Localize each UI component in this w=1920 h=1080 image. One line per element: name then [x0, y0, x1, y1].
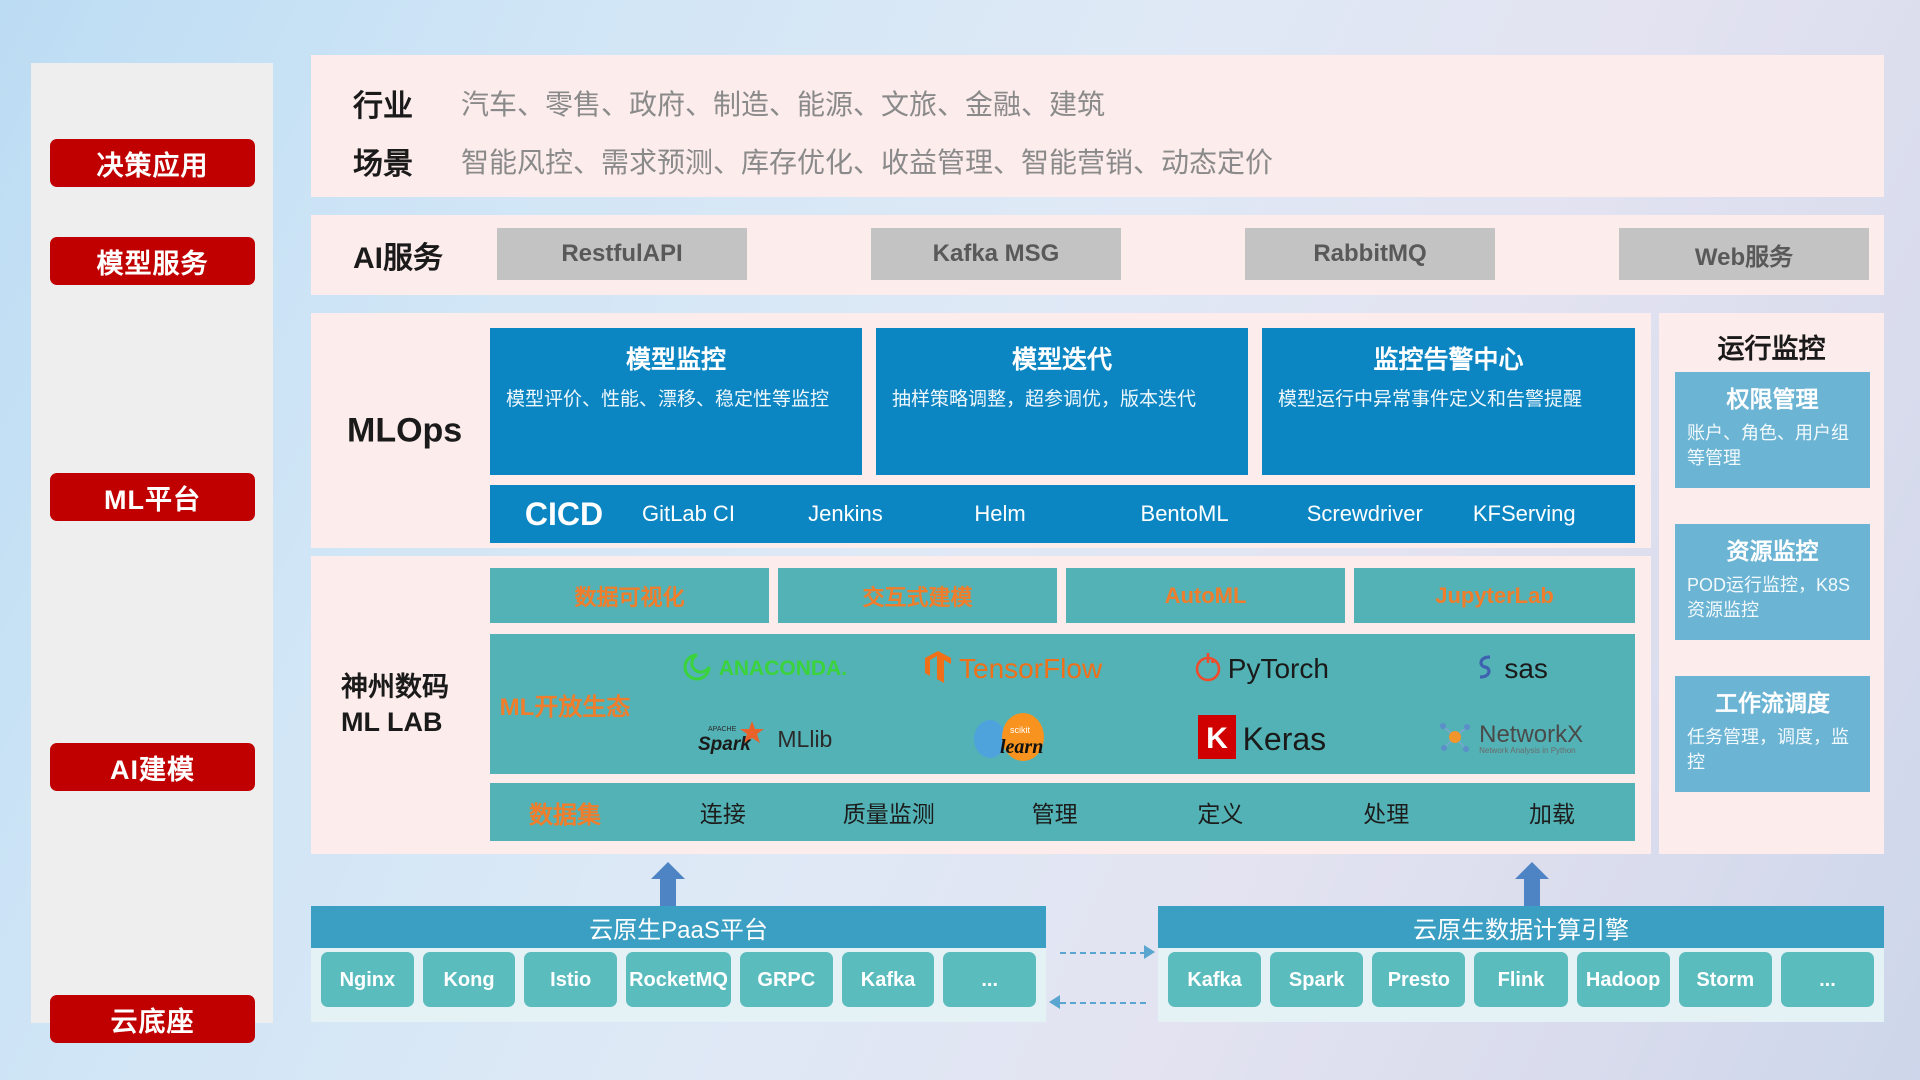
dashed-connector-top — [1060, 952, 1146, 954]
keras-label: Keras — [1243, 721, 1327, 758]
scenario-value: 智能风控、需求预测、库存优化、收益管理、智能营销、动态定价 — [461, 141, 1273, 181]
dashed-arrow-right — [1144, 945, 1155, 959]
tensorflow-logo: TensorFlow — [924, 650, 1102, 689]
ml-ecosystem-row: ML开放生态 ANACONDA. TensorFlow — [490, 634, 1635, 774]
svg-text:APACHE: APACHE — [708, 726, 737, 733]
scikit-learn-logo: scikit learn — [966, 711, 1060, 768]
svg-text:Spark: Spark — [698, 734, 752, 755]
monitor-card-desc: POD运行监控，K8S资源监控 — [1687, 573, 1858, 623]
pytorch-icon — [1195, 652, 1221, 687]
tensorflow-icon — [924, 650, 952, 689]
monitor-card-permission[interactable]: 权限管理 账户、角色、用户组等管理 — [1675, 372, 1870, 488]
anaconda-logo: ANACONDA. — [682, 652, 847, 687]
cloud-data-engine-header: 云原生数据计算引擎 — [1158, 906, 1884, 948]
cloud-chip-nginx[interactable]: Nginx — [321, 952, 414, 1007]
dashed-arrow-left — [1049, 995, 1060, 1009]
ml-ecosystem-logo-grid: ANACONDA. TensorFlow — [640, 634, 1635, 774]
dataset-item-quality[interactable]: 质量监测 — [806, 795, 972, 829]
keras-icon: K — [1198, 715, 1236, 764]
arrow-up-left — [651, 862, 685, 906]
svg-text:K: K — [1206, 722, 1228, 755]
cicd-item-bentoml[interactable]: BentoML — [1137, 485, 1303, 543]
cloud-paas-block: 云原生PaaS平台 Nginx Kong Istio RocketMQ GRPC… — [311, 906, 1046, 1022]
ml-ecosystem-label: ML开放生态 — [490, 687, 640, 722]
cicd-item-kfserving[interactable]: KFServing — [1469, 485, 1635, 543]
cloud-data-engine-chips: Kafka Spark Presto Flink Hadoop Storm ..… — [1158, 952, 1884, 1007]
mlops-band: MLOps 模型监控 模型评价、性能、漂移、稳定性等监控 模型迭代 抽样策略调整… — [311, 313, 1651, 548]
cloud-chip-grpc[interactable]: GRPC — [740, 952, 833, 1007]
tool-chip-interactive-modeling[interactable]: 交互式建模 — [778, 568, 1057, 623]
tool-chip-jupyterlab[interactable]: JupyterLab — [1354, 568, 1635, 623]
pytorch-logo: PyTorch — [1195, 652, 1329, 687]
cloud-chip-more2[interactable]: ... — [1781, 952, 1874, 1007]
cicd-item-gitlab-ci[interactable]: GitLab CI — [638, 485, 804, 543]
cloud-chip-rocketmq[interactable]: RocketMQ — [626, 952, 731, 1007]
rail-item-decision-app[interactable]: 决策应用 — [50, 139, 255, 187]
svg-text:scikit: scikit — [1010, 725, 1030, 735]
cloud-paas-chips: Nginx Kong Istio RocketMQ GRPC Kafka ... — [311, 952, 1046, 1007]
mlops-label: MLOps — [347, 411, 462, 450]
networkx-logo: NetworkX Network Analysis in Python — [1438, 720, 1583, 759]
cloud-chip-spark[interactable]: Spark — [1270, 952, 1363, 1007]
ml-lab-label: 神州数码 ML LAB — [341, 670, 449, 740]
service-chip-restfulapi[interactable]: RestfulAPI — [497, 228, 747, 280]
service-chip-web-service[interactable]: Web服务 — [1619, 228, 1869, 280]
cicd-item-screwdriver[interactable]: Screwdriver — [1303, 485, 1469, 543]
sas-icon — [1473, 653, 1497, 686]
mlops-card-desc: 模型运行中异常事件定义和告警提醒 — [1278, 387, 1619, 414]
monitor-card-title: 资源监控 — [1687, 532, 1858, 566]
industry-key: 行业 — [311, 81, 461, 125]
mlops-card-desc: 抽样策略调整，超参调优，版本迭代 — [892, 387, 1232, 414]
dataset-item-load[interactable]: 加载 — [1469, 795, 1635, 829]
monitor-card-title: 权限管理 — [1687, 380, 1858, 414]
cloud-chip-more[interactable]: ... — [943, 952, 1036, 1007]
industry-row: 行业 汽车、零售、政府、制造、能源、文旅、金融、建筑 — [311, 81, 1105, 125]
anaconda-icon — [682, 652, 712, 687]
rail-item-ml-platform[interactable]: ML平台 — [50, 473, 255, 521]
cicd-row: CICD GitLab CI Jenkins Helm BentoML Scre… — [490, 485, 1635, 543]
tool-chip-automl[interactable]: AutoML — [1066, 568, 1345, 623]
arrow-up-right — [1515, 862, 1549, 906]
rail-item-model-service[interactable]: 模型服务 — [50, 237, 255, 285]
cicd-item-helm[interactable]: Helm — [970, 485, 1136, 543]
dataset-item-process[interactable]: 处理 — [1303, 795, 1469, 829]
spark-icon: APACHE Spark — [696, 719, 770, 760]
monitor-card-resource[interactable]: 资源监控 POD运行监控，K8S资源监控 — [1675, 524, 1870, 640]
cloud-data-engine-block: 云原生数据计算引擎 Kafka Spark Presto Flink Hadoo… — [1158, 906, 1884, 1022]
keras-logo: K Keras — [1198, 715, 1327, 764]
cloud-chip-kafka2[interactable]: Kafka — [1168, 952, 1261, 1007]
dataset-item-connect[interactable]: 连接 — [640, 795, 806, 829]
cloud-paas-header: 云原生PaaS平台 — [311, 906, 1046, 948]
runtime-monitor-column: 运行监控 权限管理 账户、角色、用户组等管理 资源监控 POD运行监控，K8S资… — [1659, 313, 1884, 854]
pytorch-label: PyTorch — [1228, 653, 1329, 685]
runtime-monitor-title: 运行监控 — [1659, 327, 1884, 366]
mlops-card-model-monitoring[interactable]: 模型监控 模型评价、性能、漂移、稳定性等监控 — [490, 328, 862, 475]
cloud-chip-storm[interactable]: Storm — [1679, 952, 1772, 1007]
mlops-card-alert-center[interactable]: 监控告警中心 模型运行中异常事件定义和告警提醒 — [1262, 328, 1635, 475]
mlops-card-desc: 模型评价、性能、漂移、稳定性等监控 — [506, 387, 846, 414]
cloud-chip-presto[interactable]: Presto — [1372, 952, 1465, 1007]
mlops-card-model-iteration[interactable]: 模型迭代 抽样策略调整，超参调优，版本迭代 — [876, 328, 1248, 475]
tool-chip-data-visualization[interactable]: 数据可视化 — [490, 568, 769, 623]
dashed-connector-bottom — [1060, 1002, 1146, 1004]
ai-modeling-band: 神州数码 ML LAB 数据可视化 交互式建模 AutoML JupyterLa… — [311, 556, 1651, 854]
svg-text:learn: learn — [1000, 736, 1043, 758]
monitor-card-title: 工作流调度 — [1687, 684, 1858, 718]
rail-item-ai-modeling[interactable]: AI建模 — [50, 743, 255, 791]
monitor-card-desc: 账户、角色、用户组等管理 — [1687, 421, 1858, 471]
scikit-learn-icon: scikit learn — [966, 711, 1060, 768]
cloud-chip-flink[interactable]: Flink — [1474, 952, 1567, 1007]
sas-label: sas — [1504, 653, 1548, 685]
dataset-row: 数据集 连接 质量监测 管理 定义 处理 加载 — [490, 783, 1635, 841]
networkx-label: NetworkX — [1479, 722, 1583, 747]
monitor-card-desc: 任务管理，调度，监控 — [1687, 725, 1858, 775]
mlops-card-title: 监控告警中心 — [1278, 340, 1619, 376]
service-chip-rabbitmq[interactable]: RabbitMQ — [1245, 228, 1495, 280]
service-chip-kafka-msg[interactable]: Kafka MSG — [871, 228, 1121, 280]
networkx-icon — [1438, 720, 1472, 759]
ml-lab-label-line2: ML LAB — [341, 705, 449, 740]
cloud-chip-kafka[interactable]: Kafka — [842, 952, 935, 1007]
dataset-item-manage[interactable]: 管理 — [972, 795, 1138, 829]
sas-logo: sas — [1473, 653, 1548, 686]
cicd-title: CICD — [490, 496, 638, 533]
mlops-card-title: 模型监控 — [506, 340, 846, 376]
mlops-card-title: 模型迭代 — [892, 340, 1232, 376]
scenario-key: 场景 — [311, 139, 461, 183]
monitor-card-workflow[interactable]: 工作流调度 任务管理，调度，监控 — [1675, 676, 1870, 792]
scenario-row: 场景 智能风控、需求预测、库存优化、收益管理、智能营销、动态定价 — [311, 139, 1273, 183]
dataset-title: 数据集 — [490, 795, 640, 830]
rail-item-cloud-base[interactable]: 云底座 — [50, 995, 255, 1043]
ml-lab-label-line1: 神州数码 — [341, 670, 449, 705]
industry-value: 汽车、零售、政府、制造、能源、文旅、金融、建筑 — [461, 83, 1105, 123]
ai-service-label: AI服务 — [353, 233, 443, 277]
ai-service-band: AI服务 RestfulAPI Kafka MSG RabbitMQ Web服务 — [311, 215, 1884, 295]
industry-scenario-band: 行业 汽车、零售、政府、制造、能源、文旅、金融、建筑 场景 智能风控、需求预测、… — [311, 55, 1884, 197]
dataset-item-define[interactable]: 定义 — [1137, 795, 1303, 829]
cloud-chip-istio[interactable]: Istio — [524, 952, 617, 1007]
left-rail: 决策应用 模型服务 ML平台 AI建模 云底座 — [31, 63, 273, 1023]
spark-mllib-logo: APACHE Spark MLlib — [696, 719, 832, 760]
cloud-chip-kong[interactable]: Kong — [423, 952, 516, 1007]
networkx-tagline: Network Analysis in Python — [1479, 747, 1583, 755]
tensorflow-label: TensorFlow — [959, 653, 1102, 685]
anaconda-label: ANACONDA. — [719, 657, 847, 681]
mllib-label: MLlib — [777, 726, 832, 753]
cicd-item-jenkins[interactable]: Jenkins — [804, 485, 970, 543]
cloud-chip-hadoop[interactable]: Hadoop — [1577, 952, 1670, 1007]
